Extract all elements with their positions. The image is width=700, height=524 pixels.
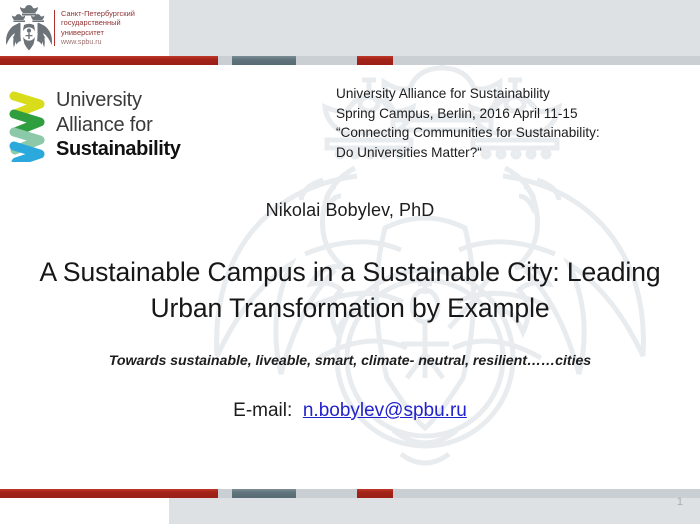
- presentation-slide: Санкт-Петербургский государственный унив…: [0, 0, 700, 524]
- bottom-divider-bar: [0, 489, 700, 498]
- zigzag-chevron-icon: [8, 90, 52, 162]
- bar-segment-red-mid-bottom: [357, 489, 393, 498]
- page-title: A Sustainable Campus in a Sustainable Ci…: [14, 254, 686, 326]
- email-link[interactable]: n.bobylev@spbu.ru: [303, 400, 467, 421]
- event-info-block: University Alliance for Sustainability S…: [336, 84, 686, 162]
- presenter-name: Nikolai Bobylev, PhD: [0, 200, 700, 221]
- title-line-1: A Sustainable Campus in a Sustainable Ci…: [14, 254, 686, 290]
- spbu-url: www.spbu.ru: [61, 38, 135, 48]
- spbu-wordmark: Санкт-Петербургский государственный унив…: [61, 9, 135, 47]
- page-number: 1: [677, 496, 683, 508]
- spbu-line-3: университет: [61, 28, 135, 38]
- uas-line-2: Alliance for: [56, 113, 180, 138]
- spbu-line-1: Санкт-Петербургский: [61, 9, 135, 19]
- event-line-1: University Alliance for Sustainability: [336, 84, 686, 104]
- email-label: E-mail:: [233, 400, 292, 421]
- event-line-3: “Connecting Communities for Sustainabili…: [336, 123, 686, 143]
- event-line-2: Spring Campus, Berlin, 2016 April 11-15: [336, 104, 686, 124]
- double-headed-eagle-icon: [6, 5, 52, 51]
- title-line-2: Urban Transformation by Example: [14, 290, 686, 326]
- spbu-logo-panel: Санкт-Петербургский государственный унив…: [0, 0, 169, 56]
- spbu-line-2: государственный: [61, 18, 135, 28]
- uas-line-3: Sustainability: [56, 137, 180, 162]
- bar-segment-slate-bottom: [232, 489, 296, 498]
- subtitle-tagline: Towards sustainable, liveable, smart, cl…: [0, 353, 700, 369]
- contact-line: E-mail: n.bobylev@spbu.ru: [0, 400, 700, 422]
- bar-segment-red-mid: [357, 56, 393, 65]
- bar-segment-red-left: [0, 56, 218, 65]
- uas-line-1: University: [56, 88, 180, 113]
- uas-wordmark: University Alliance for Sustainability: [56, 88, 180, 162]
- top-divider-bar: [0, 56, 700, 65]
- spbu-divider: [54, 10, 55, 46]
- event-line-4: Do Universities Matter?“: [336, 143, 686, 163]
- uas-logo: University Alliance for Sustainability: [8, 88, 203, 164]
- bar-segment-red-left-bottom: [0, 489, 218, 498]
- bar-segment-slate: [232, 56, 296, 65]
